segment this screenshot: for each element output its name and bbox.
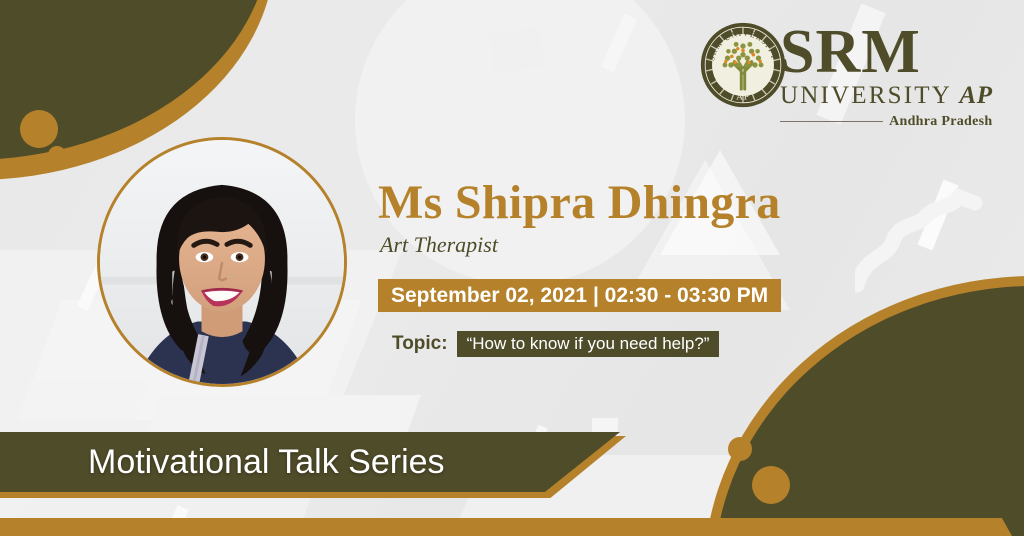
speaker-portrait — [97, 137, 347, 387]
logo-state-row: Andhra Pradesh — [780, 114, 992, 130]
srm-seal-icon: SRM UNIVERSITY AP — [700, 22, 786, 108]
topic-row: Topic: “How to know if you need help?” — [392, 331, 719, 357]
logo-divider-rule — [780, 121, 883, 122]
decorative-dot — [728, 437, 752, 461]
speaker-portrait-image — [100, 140, 344, 384]
series-ribbon: Motivational Talk Series — [0, 432, 620, 492]
topic-label: Topic: — [392, 333, 448, 355]
srm-university-logo: SRM UNIVERSITY AP — [700, 22, 992, 130]
decorative-dot — [20, 110, 58, 148]
logo-state-label: Andhra Pradesh — [889, 114, 992, 130]
decorative-dot — [48, 146, 66, 164]
decorative-dot — [752, 466, 790, 504]
event-poster: SRM UNIVERSITY AP — [0, 0, 1024, 536]
bottom-accent-bar — [0, 518, 1012, 536]
speaker-name: Ms Shipra Dhingra — [378, 175, 781, 230]
logo-subtitle-text: UNIVERSITY — [780, 82, 951, 109]
svg-text:AP: AP — [736, 92, 750, 102]
series-title: Motivational Talk Series — [88, 443, 445, 482]
speaker-role: Art Therapist — [380, 232, 498, 258]
logo-wordmark: SRM — [780, 24, 992, 81]
logo-subtitle-ap: AP — [960, 82, 993, 109]
logo-subtitle: UNIVERSITY AP — [780, 82, 992, 110]
event-date-time-badge: September 02, 2021 | 02:30 - 03:30 PM — [378, 279, 781, 312]
topic-value-badge: “How to know if you need help?” — [457, 331, 720, 357]
